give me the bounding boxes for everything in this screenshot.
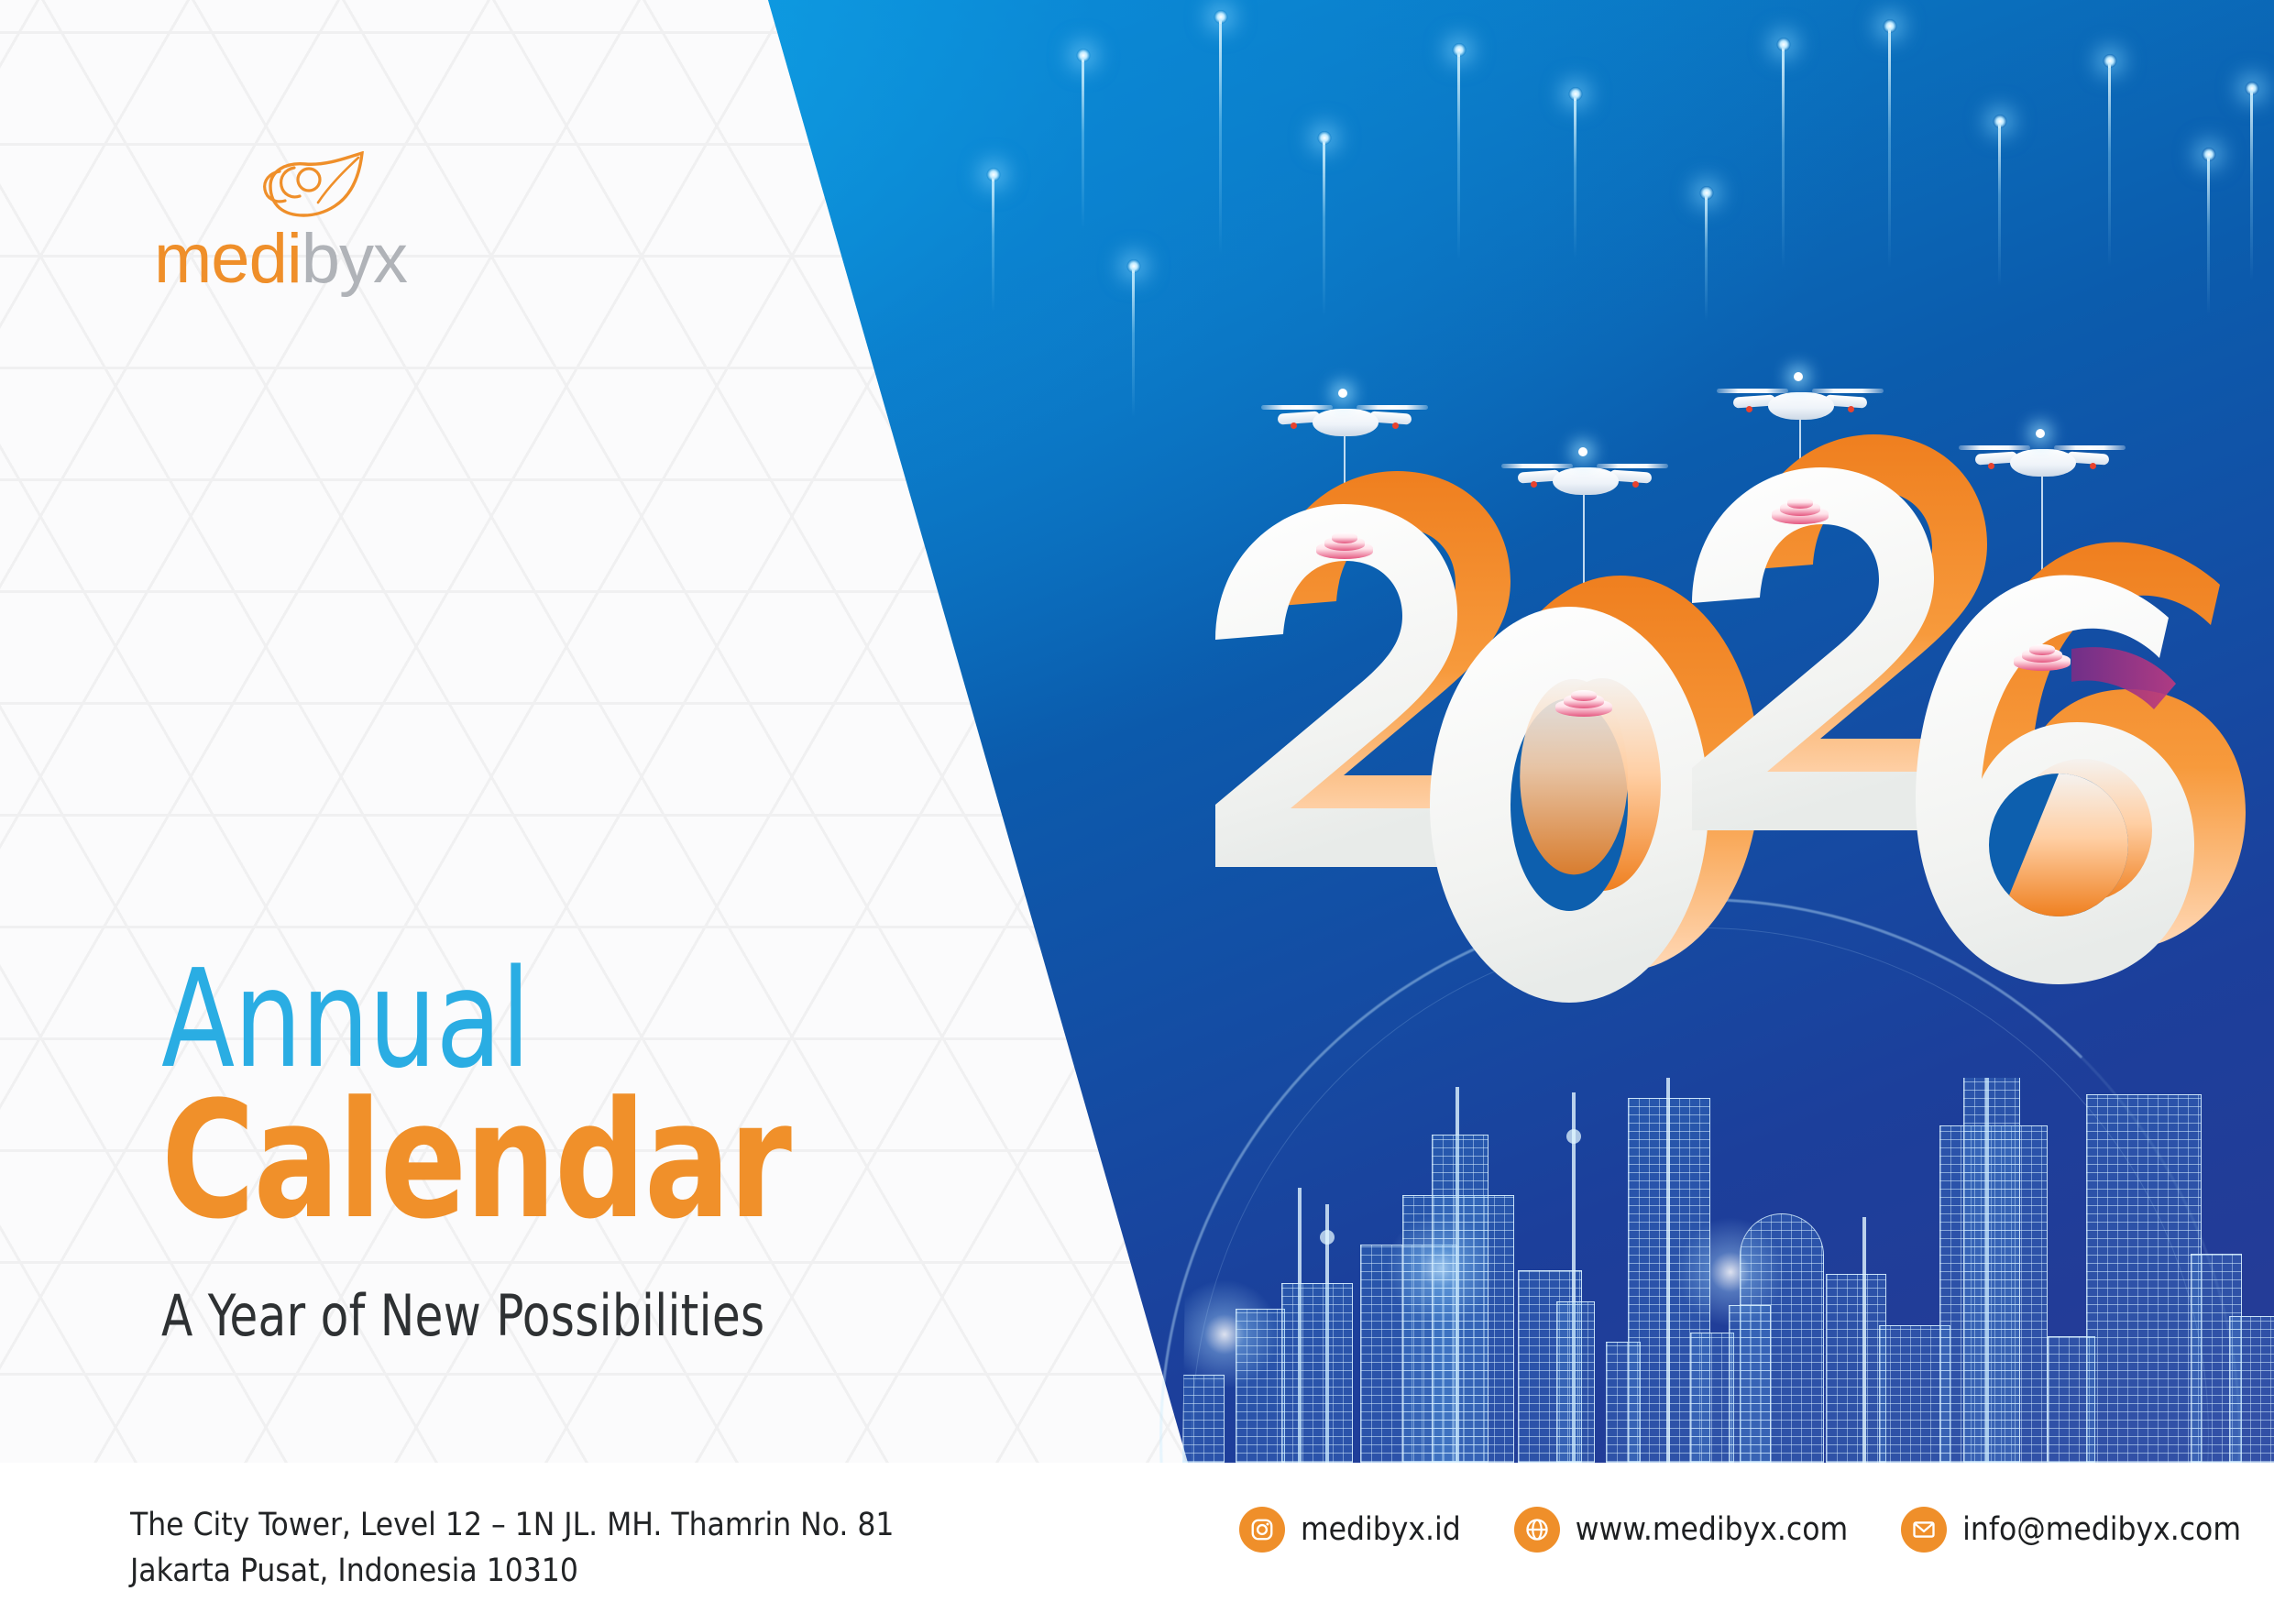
brand-wordmark: medibyx [154, 225, 447, 294]
footer-bar: The City Tower, Level 12 – 1N JL. MH. Th… [0, 1463, 2274, 1624]
contact-instagram-label: medibyx.id [1301, 1511, 1461, 1548]
headline-subtitle: A Year of New Possibilities [161, 1282, 986, 1349]
globe-icon [1514, 1507, 1560, 1553]
company-address: The City Tower, Level 12 – 1N JL. MH. Th… [130, 1503, 894, 1594]
calendar-cover-page: medibyx Annual Calendar A Year of New Po… [0, 0, 2274, 1624]
cable-attach-cap [1772, 497, 1829, 524]
headline-block: Annual Calendar A Year of New Possibilit… [161, 953, 1078, 1349]
address-line-1: The City Tower, Level 12 – 1N JL. MH. Th… [130, 1503, 894, 1549]
contact-email[interactable]: info@medibyx.com [1901, 1507, 2241, 1553]
envelope-icon [1901, 1507, 1947, 1553]
contact-email-label: info@medibyx.com [1962, 1511, 2241, 1548]
contact-website[interactable]: www.medibyx.com [1514, 1507, 1848, 1553]
instagram-icon [1239, 1507, 1285, 1553]
address-line-2: Jakarta Pusat, Indonesia 10310 [130, 1549, 894, 1595]
contact-website-label: www.medibyx.com [1576, 1511, 1848, 1548]
brand-name-primary: medi [154, 220, 302, 298]
contact-list: medibyx.id www.medibyx.com [1239, 1507, 2241, 1553]
brand-name-secondary: byx [302, 220, 407, 298]
cable-attach-cap [2014, 643, 2071, 671]
leaf-seed-icon [258, 151, 369, 223]
cable-attach-cap [1555, 689, 1612, 717]
headline-line-calendar: Calendar [161, 1081, 968, 1242]
cable-attach-cap [1316, 532, 1373, 559]
brand-logo[interactable]: medibyx [154, 151, 447, 298]
contact-instagram[interactable]: medibyx.id [1239, 1507, 1461, 1553]
